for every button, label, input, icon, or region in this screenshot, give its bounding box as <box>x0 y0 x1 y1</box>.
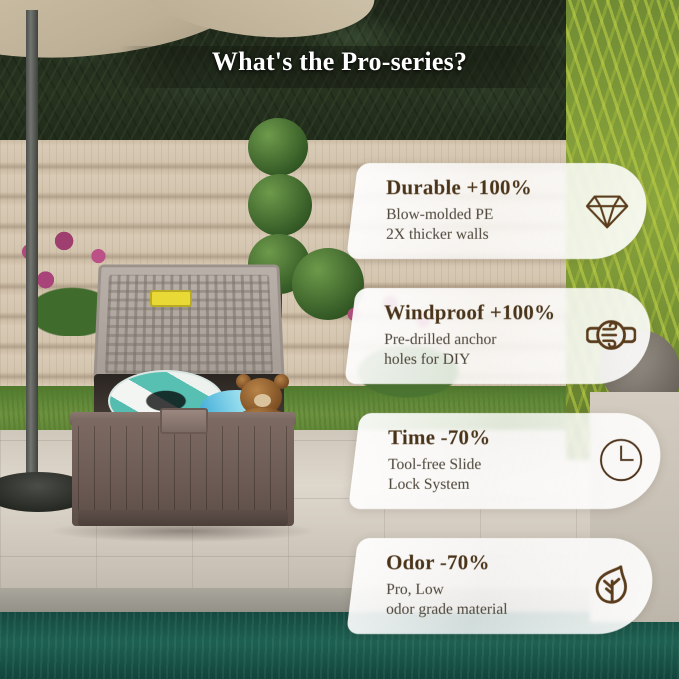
feature-title: Odor -70% <box>386 550 574 575</box>
feature-line-1: Pro, Low <box>386 580 574 600</box>
wind-icon <box>572 312 650 358</box>
feature-line-2: holes for DIY <box>384 350 572 370</box>
feature-line-2: 2X thicker walls <box>386 225 568 245</box>
feature-title: Durable +100% <box>386 175 568 200</box>
feature-text-windproof: Windproof +100% Pre-drilled anchor holes… <box>350 300 572 370</box>
teddy-bear-muzzle <box>254 394 271 407</box>
topiary-ball-middle <box>248 174 312 236</box>
lid-warning-label <box>150 290 192 307</box>
feature-line-1: Pre-drilled anchor <box>384 330 572 350</box>
product-infographic: What's the Pro-series? Durable +100% Blo… <box>0 0 679 679</box>
page-title: What's the Pro-series? <box>0 47 679 77</box>
deck-box-latch <box>160 408 208 434</box>
feature-line-1: Blow-molded PE <box>386 205 568 225</box>
resin-deck-box <box>72 262 294 530</box>
feature-title: Windproof +100% <box>384 300 572 325</box>
feature-text-durable: Durable +100% Blow-molded PE 2X thicker … <box>352 175 568 245</box>
feature-line-2: odor grade material <box>386 600 574 620</box>
feature-line-1: Tool-free Slide <box>388 455 582 475</box>
diamond-icon <box>568 187 646 233</box>
feature-card-windproof[interactable]: Windproof +100% Pre-drilled anchor holes… <box>344 288 656 384</box>
leaf-icon <box>574 562 652 608</box>
feature-title: Time -70% <box>388 425 582 450</box>
deck-box-base-skirt <box>78 510 288 526</box>
feature-card-durable[interactable]: Durable +100% Blow-molded PE 2X thicker … <box>346 163 652 259</box>
topiary-ball-top <box>248 118 308 176</box>
feature-card-odor[interactable]: Odor -70% Pro, Low odor grade material <box>346 538 658 634</box>
feature-text-odor: Odor -70% Pro, Low odor grade material <box>352 550 574 620</box>
umbrella-pole <box>26 10 38 480</box>
clock-icon <box>582 437 660 483</box>
deck-box-lid <box>93 264 285 385</box>
feature-line-2: Lock System <box>388 475 582 495</box>
feature-text-time: Time -70% Tool-free Slide Lock System <box>354 425 582 495</box>
feature-card-time[interactable]: Time -70% Tool-free Slide Lock System <box>348 413 666 509</box>
